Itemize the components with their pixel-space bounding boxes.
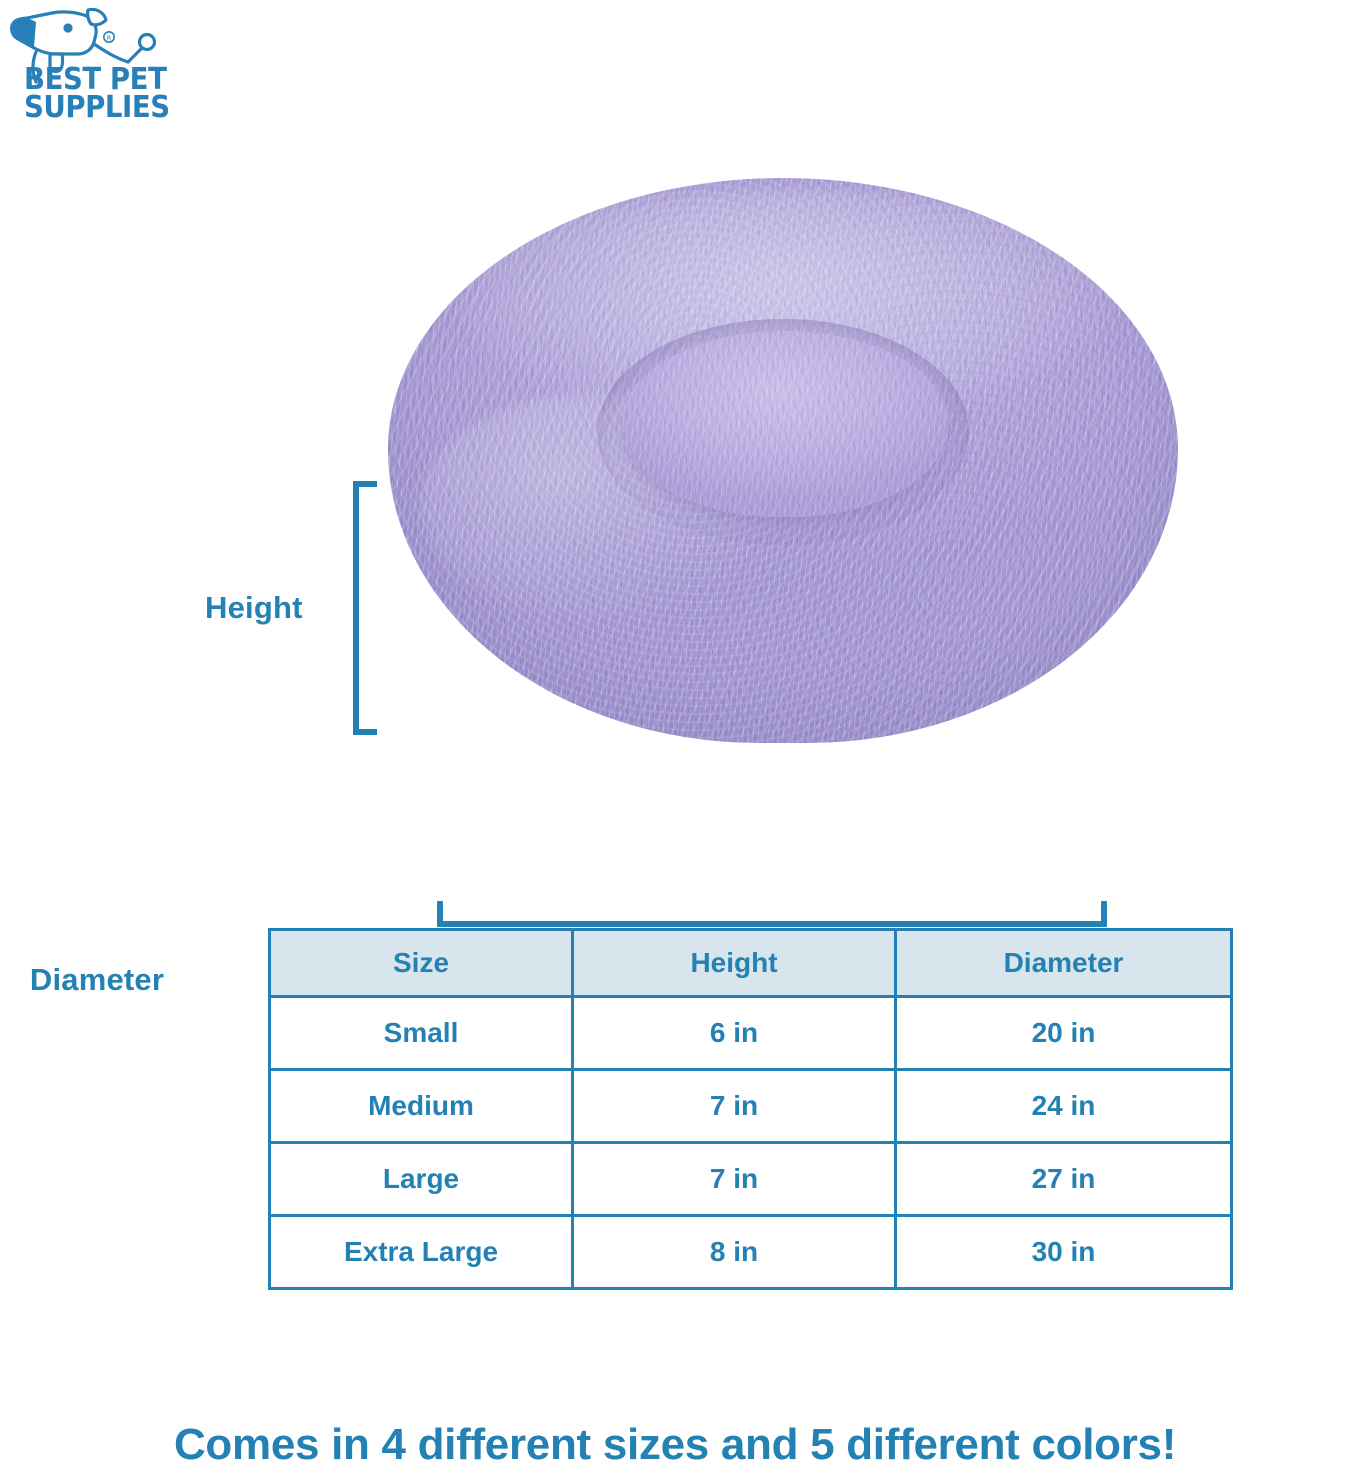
table-row: Medium 7 in 24 in (270, 1070, 1232, 1143)
pet-bed-inner-cushion (621, 331, 949, 517)
height-label: Height (205, 590, 303, 626)
cell-size: Medium (270, 1070, 573, 1143)
brand-wordmark: BEST PET SUPPLIES (24, 66, 170, 121)
column-header-height: Height (573, 930, 896, 997)
svg-text:R: R (107, 34, 112, 42)
size-chart-table: Size Height Diameter Small 6 in 20 in Me… (268, 928, 1233, 1290)
brand-name-line-2: SUPPLIES (24, 94, 158, 122)
cell-diameter: 20 in (896, 997, 1232, 1070)
cell-diameter: 30 in (896, 1216, 1232, 1289)
table-row: Small 6 in 20 in (270, 997, 1232, 1070)
table-header-row: Size Height Diameter (270, 930, 1232, 997)
footer-headline: Comes in 4 different sizes and 5 differe… (0, 1420, 1350, 1470)
cell-size: Small (270, 997, 573, 1070)
cell-diameter: 27 in (896, 1143, 1232, 1216)
fur-texture-layer (621, 331, 949, 517)
cell-height: 6 in (573, 997, 896, 1070)
product-diagram: Height Diameter (0, 150, 1350, 770)
height-bracket (353, 481, 377, 735)
cell-size: Large (270, 1143, 573, 1216)
column-header-diameter: Diameter (896, 930, 1232, 997)
diameter-bracket (437, 901, 1107, 927)
table-row: Large 7 in 27 in (270, 1143, 1232, 1216)
table-header: Size Height Diameter (270, 930, 1232, 997)
cell-size: Extra Large (270, 1216, 573, 1289)
table-row: Extra Large 8 in 30 in (270, 1216, 1232, 1289)
fur-texture-layer (621, 331, 949, 517)
cell-diameter: 24 in (896, 1070, 1232, 1143)
cell-height: 7 in (573, 1070, 896, 1143)
pet-bed-image (388, 178, 1178, 743)
diameter-label: Diameter (30, 962, 164, 997)
table-body: Small 6 in 20 in Medium 7 in 24 in Large… (270, 997, 1232, 1289)
column-header-size: Size (270, 930, 573, 997)
brand-logo: R BEST PET SUPPLIES (8, 4, 168, 129)
cell-height: 7 in (573, 1143, 896, 1216)
cell-height: 8 in (573, 1216, 896, 1289)
